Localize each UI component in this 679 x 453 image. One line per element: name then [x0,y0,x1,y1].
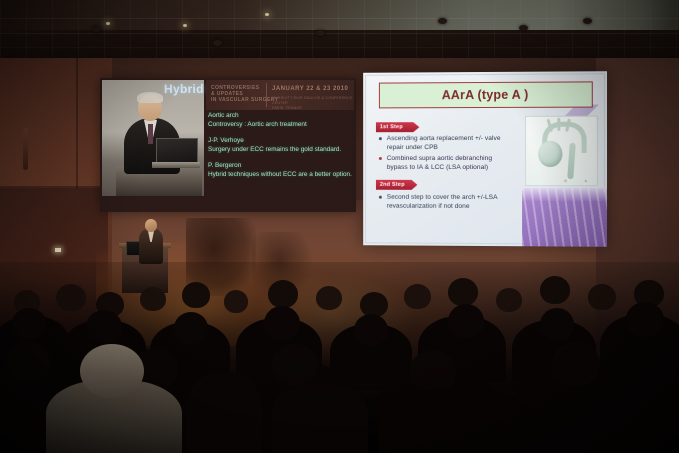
video-speaker-hair [137,92,163,103]
audience-head [448,278,478,306]
left-screen-line: Hybrid techniques without ECC are a bett… [208,171,354,179]
audience-shoulders-foreground [380,388,530,453]
audience-head [174,312,208,344]
ceiling-spot-light-lit [265,13,269,16]
ceiling-spot-light-lit [183,24,187,27]
slide-bullet-text: Ascending aorta replacement +/- valve re… [387,135,501,151]
aortic-branch [557,118,560,131]
audience-head [182,282,210,308]
graphic-stripes [522,188,607,247]
ceiling-spot-light [583,18,592,24]
audience-head [140,287,166,311]
audience-head [410,350,456,392]
audience-section [0,262,679,453]
ceiling-spot-light [213,40,222,46]
wall-seam [76,58,78,188]
right-projection-screen: AArA (type A ) 1st Step Ascending aorta … [363,71,607,247]
aortic-root-bulb [538,141,562,167]
ceiling-spot-light [519,25,528,31]
small-light-source [55,248,61,252]
left-screen-line: Controversy : Aortic arch treatment [208,121,354,129]
wall-seam [0,186,110,188]
audience-head-foreground [272,384,368,453]
left-projection-screen: Hybrid tec CONTROVERSIES & UPDATES IN VA… [100,78,356,212]
purple-stent-graphic [522,188,607,247]
bullet-dot-icon [379,196,382,199]
audience-head [496,288,522,312]
wall-sconce [23,128,28,170]
audience-head [316,286,342,310]
audience-head [588,284,616,310]
slide-title-box: AArA (type A ) [379,81,593,108]
slide-bullet: Ascending aorta replacement +/- valve re… [387,134,516,152]
audience-head [360,292,388,317]
ceiling-spot-light [438,18,447,24]
speaker-head [145,219,157,232]
audience-head [540,308,574,341]
slide-bullet-text: Combined supra aortic debranching bypass… [387,155,492,171]
step-2-banner: 2nd Step [376,180,417,190]
slide-bullet-text: Second step to cover the arch +/-LSA rev… [387,194,497,210]
ceiling-grid [0,0,679,62]
audience-head [224,290,248,313]
ceiling-spot-light-lit [106,22,110,25]
slide-bullet: Combined supra aortic debranching bypass… [387,154,514,172]
step-2-label: 2nd Step [380,182,405,188]
descending-aorta [567,143,576,180]
banner-venue: MARRIOTT RIVE GAUCHE & CONFERENCE CENTER… [272,96,354,110]
bullet-dot-icon [379,157,382,160]
audience-head-foreground [80,344,144,398]
step-1-label: 1st Step [380,124,403,130]
ceiling-seam [0,18,679,19]
audience-head [272,344,318,386]
audience-head [56,284,86,311]
bullet-dot-icon [379,137,382,140]
audience-head [268,280,298,308]
audience-head [540,276,570,304]
aortic-arch-illustration: B A [525,116,598,187]
ceiling-spot-light [316,30,325,36]
audience-head [264,306,300,340]
speaker-video-feed [102,80,204,196]
audience-head [12,308,46,339]
audience-head [354,314,388,346]
ceiling-seam [0,47,679,48]
conference-banner: CONTROVERSIES & UPDATES IN VASCULAR SURG… [206,80,354,110]
left-screen-line: Surgery under ECC remains the gold stand… [208,146,354,154]
audience-head [404,284,431,309]
audience-head [86,310,122,343]
left-screen-speaker-name: P. Bergeron [208,162,354,170]
left-screen-text-block: Aortic arch Controversy : Aortic arch tr… [208,112,354,180]
audience-shoulders-foreground [540,382,679,453]
audience-head-foreground [186,372,262,453]
banner-dates: JANUARY 22 & 23 2010 [272,86,348,92]
spacer [208,130,354,137]
video-laptop-base [152,162,200,168]
slide-bullet: Second step to cover the arch +/-LSA rev… [387,193,520,211]
banner-event-name: CONTROVERSIES & UPDATES IN VASCULAR SURG… [211,85,278,103]
anatomy-label-b: B [564,179,566,183]
audience-head [6,342,50,382]
audience-head [448,304,484,338]
ceiling-spot-light [92,26,101,32]
ceiling-seam [0,33,679,34]
slide-title: AArA (type A ) [442,88,529,102]
anatomy-label-a: A [585,179,587,183]
left-screen-line: Aortic arch [208,112,354,120]
left-screen-speaker-name: J-P. Verhoye [208,137,354,145]
audience-head [552,342,600,386]
video-speaker-tie [148,124,153,144]
ceiling [0,0,679,62]
step-1-banner: 1st Step [376,122,419,132]
conference-hall-photo: Hybrid tec CONTROVERSIES & UPDATES IN VA… [0,0,679,453]
spacer [208,155,354,162]
audience-head [626,302,664,337]
